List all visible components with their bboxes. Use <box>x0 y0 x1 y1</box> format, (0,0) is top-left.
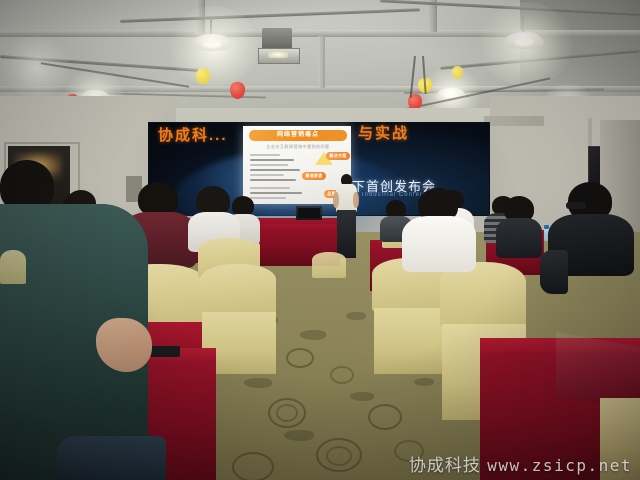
slide-header-text: 网络营销痛点 <box>249 130 347 141</box>
carpet-motif <box>414 378 434 386</box>
carpet-swirl <box>286 348 314 368</box>
slide-text-line <box>250 197 286 199</box>
projector-lens <box>268 51 288 58</box>
carpet-motif <box>300 330 326 340</box>
watermark: 协成科技 www.zsicp.net <box>409 451 632 476</box>
presenter-arm-right <box>353 192 359 208</box>
slide-callout-2: 精准获客 <box>302 172 326 180</box>
laptop-screen <box>298 208 320 218</box>
slide-callout-1: 解决方案 <box>326 152 350 160</box>
backdrop-title-right: 与实战 <box>358 124 422 146</box>
slide-text-line <box>250 164 288 166</box>
slide-subtitle: 企业在互联网营销中遇到的问题 <box>255 144 341 150</box>
phone-on-table <box>150 346 180 357</box>
wall-vent <box>484 116 544 126</box>
slide-text-line <box>250 174 284 176</box>
slide-text-line <box>250 179 296 181</box>
carpet-motif <box>244 378 272 388</box>
presenter-arm-left <box>333 192 339 208</box>
lamp-bulb-2 <box>515 38 533 46</box>
slide-text-line <box>250 154 280 156</box>
attendee-body <box>496 218 542 258</box>
slide-text-line <box>250 192 302 194</box>
carpet-swirl <box>330 366 354 384</box>
carpet-swirl <box>368 404 402 430</box>
watermark-brand: 协成科技 <box>409 456 481 476</box>
carpet-swirl <box>326 446 352 466</box>
ceiling-beam-vertical-3 <box>318 36 325 88</box>
attendee-arm <box>540 250 568 294</box>
chair-back <box>200 264 276 316</box>
carpet-swirl <box>232 452 274 480</box>
attendee-head <box>138 182 178 216</box>
chair-back <box>312 252 346 278</box>
slide-text-line <box>250 159 294 161</box>
carpet-motif <box>346 312 366 320</box>
slide-text-line <box>250 187 290 189</box>
presenter-trousers <box>337 210 356 258</box>
carpet-swirl <box>276 404 298 422</box>
photograph-conference-room: 协成科... 与实战 下首创发布会 IT Industrial Conferen… <box>0 0 640 480</box>
eyeglasses <box>566 202 586 209</box>
slide-text-line <box>250 169 300 171</box>
lamp-bulb-1 <box>203 40 221 48</box>
backdrop-title-left: 协成科... <box>158 126 244 148</box>
attendee-head <box>232 196 254 216</box>
table-top <box>262 224 336 230</box>
foreground-person-jeans <box>56 436 166 480</box>
chair-skirt <box>374 308 450 374</box>
carpet-motif <box>284 430 314 441</box>
ceiling-projector-mount <box>262 28 292 50</box>
attendee-body-white-polo <box>402 216 476 272</box>
chair-back <box>0 250 26 284</box>
carpet-motif <box>350 392 374 401</box>
watermark-url: www.zsicp.net <box>487 456 632 475</box>
